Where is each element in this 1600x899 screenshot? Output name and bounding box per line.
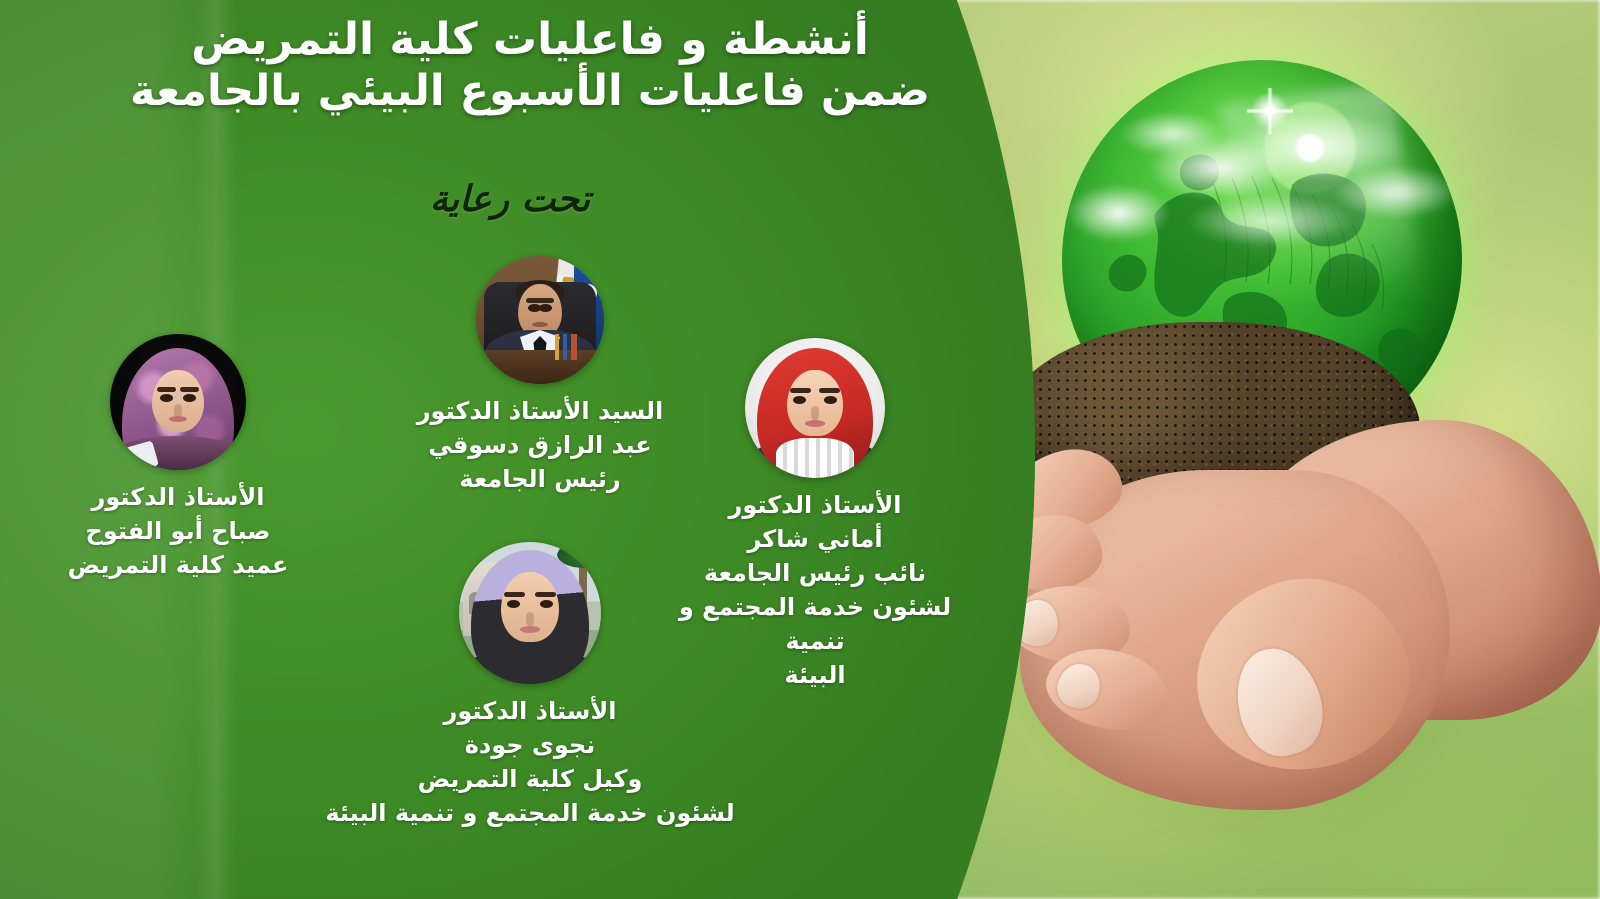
person-card-vice-dean: الأستاذ الدكتور نجوى جودة وكيل كلية التم… [320,542,740,830]
dean-title: عميد كلية التمريض [38,548,318,582]
president-name: عبد الرازق دسوقي [390,428,690,462]
avatar-dean [110,334,246,470]
vice-dean-title-2: لشئون خدمة المجتمع و تنمية البيئة [320,796,740,830]
globe-sparkle-icon [1247,88,1293,134]
dean-role: الأستاذ الدكتور [38,480,318,514]
dean-name: صباح أبو الفتوح [38,514,318,548]
president-title: رئيس الجامعة [390,462,690,496]
poster-headline: أنشطة و فاعليات كلية التمريض ضمن فاعليات… [60,14,1000,117]
hands-holding-earth-artwork [950,0,1600,899]
avatar-president [476,256,604,384]
vice-president-role: الأستاذ الدكتور [650,488,980,522]
avatar-vice-president [745,338,885,478]
vice-dean-name: نجوى جودة [320,728,740,762]
avatar-vice-dean [459,542,601,684]
portrait-dean [110,334,246,470]
headline-line-1: أنشطة و فاعليات كلية التمريض [60,14,1000,66]
portrait-vice-dean [459,542,601,684]
under-patronage-label: تحت رعاية [300,178,720,220]
environmental-week-poster: أنشطة و فاعليات كلية التمريض ضمن فاعليات… [0,0,1600,899]
portrait-vice-president [745,338,885,478]
portrait-president [476,256,604,384]
president-role: السيد الأستاذ الدكتور [390,394,690,428]
vice-dean-title-1: وكيل كلية التمريض [320,762,740,796]
person-card-dean: الأستاذ الدكتور صباح أبو الفتوح عميد كلي… [38,334,318,582]
caption-vice-dean: الأستاذ الدكتور نجوى جودة وكيل كلية التم… [320,694,740,830]
person-card-president: السيد الأستاذ الدكتور عبد الرازق دسوقي ر… [390,256,690,496]
desk-pens-icon [555,334,577,360]
caption-dean: الأستاذ الدكتور صباح أبو الفتوح عميد كلي… [38,480,318,582]
caption-president: السيد الأستاذ الدكتور عبد الرازق دسوقي ر… [390,394,690,496]
vice-dean-role: الأستاذ الدكتور [320,694,740,728]
headline-line-2: ضمن فاعليات الأسبوع البيئي بالجامعة [60,66,1000,117]
